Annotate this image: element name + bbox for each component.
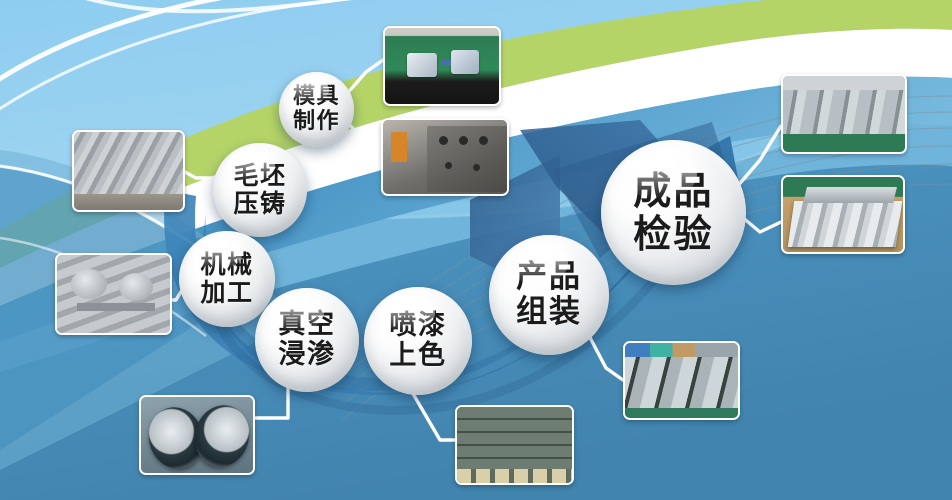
- assembly-background-bins: [625, 343, 738, 357]
- finished-goods-wall: [783, 76, 905, 90]
- step-node-final-inspection[interactable]: 成品 检验: [601, 140, 746, 285]
- photo-mold-tooling[interactable]: [381, 118, 509, 196]
- step-label-vacuum-impregnation-line2: 浸渗: [278, 340, 335, 370]
- assembly-floor: [625, 408, 738, 418]
- process-flow-poster: 模具 制作 毛坯 压铸 机械 加工 真空 浸渗 喷漆 上色 产品 组装 成品 检…: [0, 0, 952, 500]
- step-label-mold-making-line2: 制作: [293, 110, 340, 135]
- step-label-mold-making-line1: 模具: [293, 85, 340, 110]
- step-node-blank-die-casting[interactable]: 毛坯 压铸: [213, 143, 307, 237]
- photo-machined-parts[interactable]: [55, 253, 172, 335]
- step-label-product-assembly-line2: 组装: [516, 295, 582, 330]
- photo-raw-castings-stack[interactable]: [72, 130, 185, 212]
- aluminium-top-bar: [803, 187, 897, 203]
- photo-painted-panels[interactable]: [455, 405, 574, 485]
- step-node-mold-making[interactable]: 模具 制作: [279, 72, 354, 147]
- step-node-spray-painting[interactable]: 喷漆 上色: [364, 287, 472, 395]
- step-node-machining[interactable]: 机械 加工: [179, 231, 275, 327]
- cad-model-part-a: [407, 53, 437, 77]
- photo-machined-parts-image: [57, 255, 170, 333]
- finished-goods-floor: [783, 134, 905, 152]
- step-label-final-inspection-line2: 检验: [633, 213, 714, 256]
- photo-cad-mold-design[interactable]: [383, 26, 501, 106]
- castings-floor: [74, 194, 183, 210]
- step-label-machining-line2: 加工: [200, 279, 253, 307]
- cad-model-connector: [441, 60, 451, 66]
- painted-front-row: [457, 469, 572, 483]
- photo-finished-goods-table[interactable]: [781, 74, 907, 154]
- step-node-vacuum-impregnation[interactable]: 真空 浸渗: [255, 288, 359, 392]
- step-label-product-assembly-line1: 产品: [516, 260, 582, 295]
- photo-assembly-line[interactable]: [623, 341, 740, 420]
- photo-cad-mold-design-image: [385, 28, 499, 104]
- step-label-blank-die-casting-line2: 压铸: [233, 190, 286, 218]
- step-label-vacuum-impregnation-line1: 真空: [278, 310, 335, 340]
- mold-cables: [391, 132, 407, 162]
- aluminium-bars: [788, 201, 902, 247]
- photo-aluminium-profiles[interactable]: [781, 175, 905, 254]
- mold-block: [427, 126, 509, 192]
- photo-impregnated-wheels[interactable]: [139, 395, 255, 475]
- step-label-blank-die-casting-line1: 毛坯: [233, 162, 286, 190]
- step-label-spray-painting-line1: 喷漆: [389, 311, 446, 341]
- step-label-final-inspection-line1: 成品: [633, 170, 714, 213]
- step-label-machining-line1: 机械: [200, 251, 253, 279]
- cad-model-part-b: [451, 50, 479, 74]
- step-label-spray-painting-line2: 上色: [389, 341, 446, 371]
- step-node-product-assembly[interactable]: 产品 组装: [489, 235, 609, 355]
